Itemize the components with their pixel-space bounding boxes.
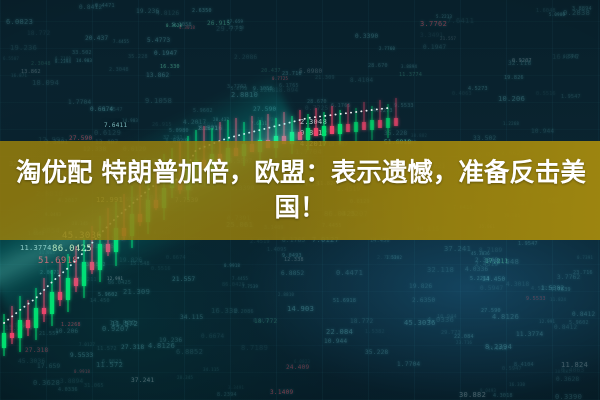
ticker-value: 0.3390 bbox=[355, 33, 378, 40]
ticker-value: 0.8412 bbox=[79, 4, 102, 11]
ticker-value: 0.1947 bbox=[423, 44, 446, 51]
ticker-value: 6.1765 bbox=[279, 83, 299, 89]
candle-body bbox=[98, 244, 102, 270]
ticker-value: 28.670 bbox=[368, 63, 388, 69]
ticker-value: 16.871 bbox=[11, 73, 27, 78]
ticker-value: 4.5273 bbox=[531, 286, 551, 292]
candle-body bbox=[42, 308, 46, 314]
ticker-value: 17.211 bbox=[485, 258, 508, 265]
ticker-value: 23.716 bbox=[282, 71, 302, 77]
candle-body bbox=[58, 292, 62, 300]
ticker-value: 22.084 bbox=[454, 334, 474, 340]
ticker-value: 18.772 bbox=[27, 30, 50, 37]
ticker-value: 0.9918 bbox=[74, 369, 90, 374]
ticker-value: 15.548 bbox=[228, 25, 244, 30]
ticker-value: 11.3774 bbox=[516, 331, 543, 338]
candle-body bbox=[370, 120, 374, 130]
ticker-value: 0.3628 bbox=[556, 376, 579, 383]
ticker-value: 4.5273 bbox=[468, 86, 488, 92]
ticker-value: 1.2268 bbox=[503, 121, 519, 126]
candle-body bbox=[106, 244, 110, 252]
ticker-value: 11.824 bbox=[550, 297, 566, 302]
ticker-value: 3.8894 bbox=[401, 64, 417, 69]
ticker-value: 5.0980 bbox=[299, 68, 322, 75]
candle-body bbox=[338, 124, 342, 134]
ticker-value: 32.118 bbox=[427, 266, 454, 274]
candle-body bbox=[2, 333, 6, 348]
ticker-value: 2.3048 bbox=[31, 61, 51, 67]
ticker-value: 4.3018 bbox=[506, 281, 529, 288]
ticker-value: 3.7762 bbox=[227, 84, 247, 90]
ticker-value: 0.3628 bbox=[33, 379, 60, 387]
ticker-value: 34.115 bbox=[203, 367, 219, 372]
ticker-value: 6.5507 bbox=[3, 56, 19, 61]
ticker-value: 3.1409 bbox=[270, 389, 293, 396]
ticker-value: 13.862 bbox=[21, 69, 41, 75]
ticker-value: 18.094 bbox=[32, 79, 59, 87]
ticker-value: 7.7539 bbox=[551, 287, 571, 293]
ticker-value: 28.345 bbox=[177, 375, 193, 380]
candle-body bbox=[346, 124, 350, 132]
ticker-value: 33.502 bbox=[72, 50, 92, 56]
ticker-value: 3.7762 bbox=[420, 20, 447, 28]
ticker-value: 11.3774 bbox=[399, 72, 422, 78]
ticker-value: 8.2394 bbox=[217, 392, 237, 398]
ticker-value: 9.1058 bbox=[253, 86, 273, 92]
ticker-value: 19.236 bbox=[10, 44, 37, 52]
candle-body bbox=[354, 122, 358, 132]
candle-body bbox=[322, 126, 326, 136]
ticker-value: 23.716 bbox=[573, 270, 593, 276]
ticker-value: 4.8126 bbox=[156, 10, 179, 17]
ticker-value: 4.0336 bbox=[465, 266, 488, 273]
candle-body bbox=[386, 118, 390, 128]
ticker-value: 11.824 bbox=[561, 361, 588, 369]
ticker-value: 0.5947 bbox=[563, 54, 579, 59]
ticker-value: 4.0336 bbox=[427, 316, 454, 324]
ticker-value: 20.437 bbox=[85, 35, 108, 42]
headline-line-1: 淘优配 特朗普加倍，欧盟：表示遗憾，准备反击美 bbox=[14, 156, 586, 191]
ticker-value: 0.4471 bbox=[95, 3, 115, 9]
ticker-value: 3.3491 bbox=[420, 32, 443, 39]
candle-body bbox=[18, 320, 22, 338]
ticker-value: 8.4104 bbox=[514, 362, 534, 368]
ticker-value: 5.4773 bbox=[147, 37, 170, 44]
ticker-value: 2.3048 bbox=[475, 257, 498, 264]
ticker-value: 0.8412 bbox=[572, 311, 595, 318]
ticker-value: 0.1947 bbox=[154, 50, 177, 57]
ticker-value: 16.330 bbox=[160, 64, 180, 70]
ticker-value: 1.9547 bbox=[518, 241, 538, 247]
ticker-value: 30.882 bbox=[555, 369, 571, 374]
ticker-value: 0.2838 bbox=[563, 9, 590, 17]
candle-body bbox=[298, 132, 302, 140]
ticker-value: 17.659 bbox=[227, 19, 243, 24]
ticker-value: 7.4455 bbox=[113, 39, 129, 44]
ticker-value: 10.206 bbox=[498, 95, 525, 103]
ticker-value: 51.6918 bbox=[488, 346, 507, 351]
ticker-value: 35.228 bbox=[128, 54, 148, 60]
ticker-value: 29.773 bbox=[216, 25, 243, 33]
ticker-value: 0.9207 bbox=[512, 58, 532, 64]
candle-body bbox=[82, 262, 86, 286]
ticker-value: 4.8126 bbox=[492, 313, 519, 321]
candle-body bbox=[34, 308, 38, 328]
ticker-value: 0.4063 bbox=[561, 367, 584, 374]
ticker-value: 16.330 bbox=[509, 382, 525, 387]
ticker-value: 29.773 bbox=[441, 330, 461, 336]
ticker-value: 1.6048 bbox=[536, 8, 556, 14]
ticker-value: 0.5947 bbox=[480, 285, 503, 292]
ticker-value: 4.0336 bbox=[58, 387, 78, 393]
ticker-value: 30.882 bbox=[459, 391, 486, 399]
ticker-value: 0.8412 bbox=[554, 324, 577, 331]
ticker-value: 2.2086 bbox=[234, 54, 257, 61]
ticker-value: 6.0823 bbox=[6, 18, 33, 26]
ticker-value: 12.991 bbox=[539, 319, 555, 324]
ticker-value: 10.944 bbox=[531, 128, 554, 135]
ticker-value: 8.4104 bbox=[350, 77, 373, 84]
ticker-value: 45.3036 bbox=[471, 251, 490, 256]
ticker-value: 1.2268 bbox=[252, 87, 275, 94]
candle-body bbox=[330, 126, 334, 134]
ticker-value: 15.548 bbox=[492, 258, 519, 266]
candle-body bbox=[378, 120, 382, 128]
ticker-value: 26.915 bbox=[207, 20, 230, 27]
ticker-value: 0.3390 bbox=[555, 393, 582, 400]
ticker-value: 2.4519 bbox=[475, 261, 498, 268]
ticker-value: 8.7189 bbox=[479, 247, 502, 254]
ticker-value: 20.437 bbox=[261, 68, 281, 74]
ticker-value: 13.862 bbox=[146, 72, 169, 79]
ticker-value: 0.3628 bbox=[166, 23, 182, 28]
ticker-value: 3.8894 bbox=[60, 378, 83, 385]
ticker-value: 5.0980 bbox=[549, 12, 565, 17]
candle-body bbox=[10, 333, 14, 338]
ticker-value: 19.826 bbox=[504, 75, 524, 81]
candle-body bbox=[362, 122, 366, 130]
ticker-value: 31.065 bbox=[84, 383, 104, 389]
ticker-value: 32.118 bbox=[508, 60, 531, 67]
ticker-value: 16.871 bbox=[552, 53, 579, 61]
ticker-value: 3.3491 bbox=[228, 385, 244, 390]
ticker-value: 4.3018 bbox=[493, 393, 513, 399]
ticker-value: 3.8894 bbox=[572, 6, 592, 12]
ticker-value: 18.094 bbox=[275, 87, 298, 94]
ticker-value: 4.3018 bbox=[179, 25, 195, 30]
ticker-value: 2.3048 bbox=[109, 67, 129, 73]
ticker-value: 37.241 bbox=[444, 245, 471, 253]
ticker-value: 8.2394 bbox=[55, 59, 71, 64]
ticker-value: 7.6411 bbox=[447, 17, 474, 25]
candle-body bbox=[314, 128, 318, 136]
ticker-value: 5.9602 bbox=[569, 320, 589, 326]
thumbnail-canvas: 45.303686.042551.691811.377412.9917.6411… bbox=[0, 0, 600, 400]
ticker-value: 0.5947 bbox=[502, 366, 522, 372]
ticker-value: 8.2394 bbox=[485, 343, 512, 351]
ticker-value: 5.4773 bbox=[231, 86, 247, 91]
ticker-value: 3.7762 bbox=[557, 274, 580, 281]
ticker-value: 1.9547 bbox=[561, 94, 581, 100]
headline-line-2: 国！ bbox=[274, 191, 325, 226]
candle-body bbox=[50, 292, 54, 314]
ticker-value: 27.590 bbox=[481, 308, 501, 314]
candle-body bbox=[90, 262, 94, 270]
ticker-value: 23.716 bbox=[456, 340, 472, 345]
ticker-value: 0.7725 bbox=[272, 76, 288, 81]
headline-text: 淘优配 特朗普加倍，欧盟：表示遗憾，准备反击美 国！ bbox=[0, 141, 600, 240]
ticker-value: 10.944 bbox=[437, 314, 457, 320]
ticker-value: 0.5516 bbox=[536, 91, 556, 97]
ticker-value: 21.557 bbox=[440, 36, 456, 41]
candle-body bbox=[394, 118, 398, 126]
ticker-value: 21.309 bbox=[315, 75, 335, 81]
ticker-value: 9.0493 bbox=[480, 388, 496, 393]
ticker-value: 9.5533 bbox=[526, 296, 546, 302]
ticker-value: 5.2213 bbox=[470, 276, 490, 282]
ticker-value: 0.7391 bbox=[577, 255, 593, 260]
candle-body bbox=[26, 320, 30, 328]
candle-body bbox=[74, 278, 78, 286]
candle-body bbox=[306, 128, 310, 140]
ticker-value: 0.4063 bbox=[452, 91, 472, 97]
ticker-value: 5.2213 bbox=[436, 14, 452, 19]
ticker-value: 37.241 bbox=[131, 377, 154, 384]
ticker-value: 1.5382 bbox=[541, 285, 564, 292]
ticker-value: 9.1058 bbox=[172, 22, 192, 28]
ticker-value: 19.236 bbox=[136, 8, 159, 15]
candle-body bbox=[66, 278, 70, 300]
ticker-value: 2.6350 bbox=[192, 8, 212, 14]
ticker-value: 8.7189 bbox=[55, 56, 71, 61]
ticker-value: 2.7760 bbox=[379, 46, 395, 51]
ticker-value: 14.450 bbox=[482, 276, 505, 283]
ticker-value: 14.903 bbox=[76, 58, 92, 63]
